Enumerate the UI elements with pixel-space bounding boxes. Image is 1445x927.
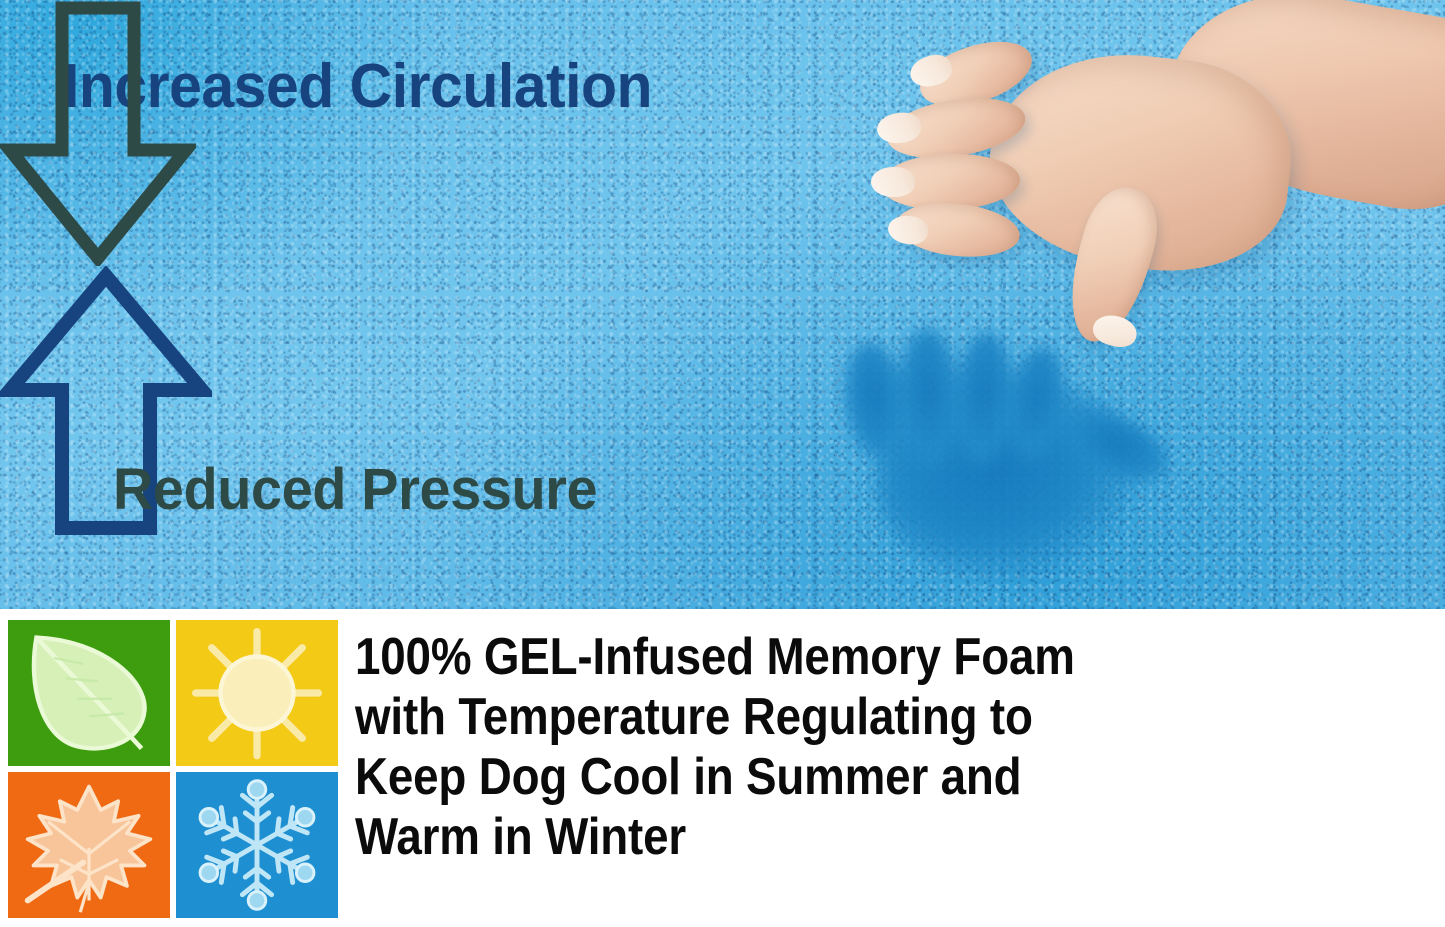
memory-foam-photo: Increased Circulation Reduced Pressure <box>0 0 1445 609</box>
snowflake-icon <box>176 772 338 918</box>
sun-icon <box>176 620 338 766</box>
headline-line-4: Warm in Winter <box>355 807 1310 867</box>
leaf-icon <box>8 620 170 766</box>
down-arrow-icon <box>0 0 196 266</box>
headline-line-2: with Temperature Regulating to <box>355 687 1310 747</box>
fingernail <box>871 167 915 197</box>
reduced-pressure-label: Reduced Pressure <box>113 461 597 519</box>
season-icon-grid <box>8 620 340 918</box>
maple-leaf-icon <box>8 772 170 918</box>
headline-line-3: Keep Dog Cool in Summer and <box>355 747 1310 807</box>
feature-panel: 100% GEL-Infused Memory Foam with Temper… <box>0 609 1445 927</box>
headline-line-1: 100% GEL-Infused Memory Foam <box>355 627 1310 687</box>
human-hand <box>840 0 1445 410</box>
feature-headline: 100% GEL-Infused Memory Foam with Temper… <box>355 627 1310 867</box>
infographic-page: Increased Circulation Reduced Pressure <box>0 0 1445 927</box>
